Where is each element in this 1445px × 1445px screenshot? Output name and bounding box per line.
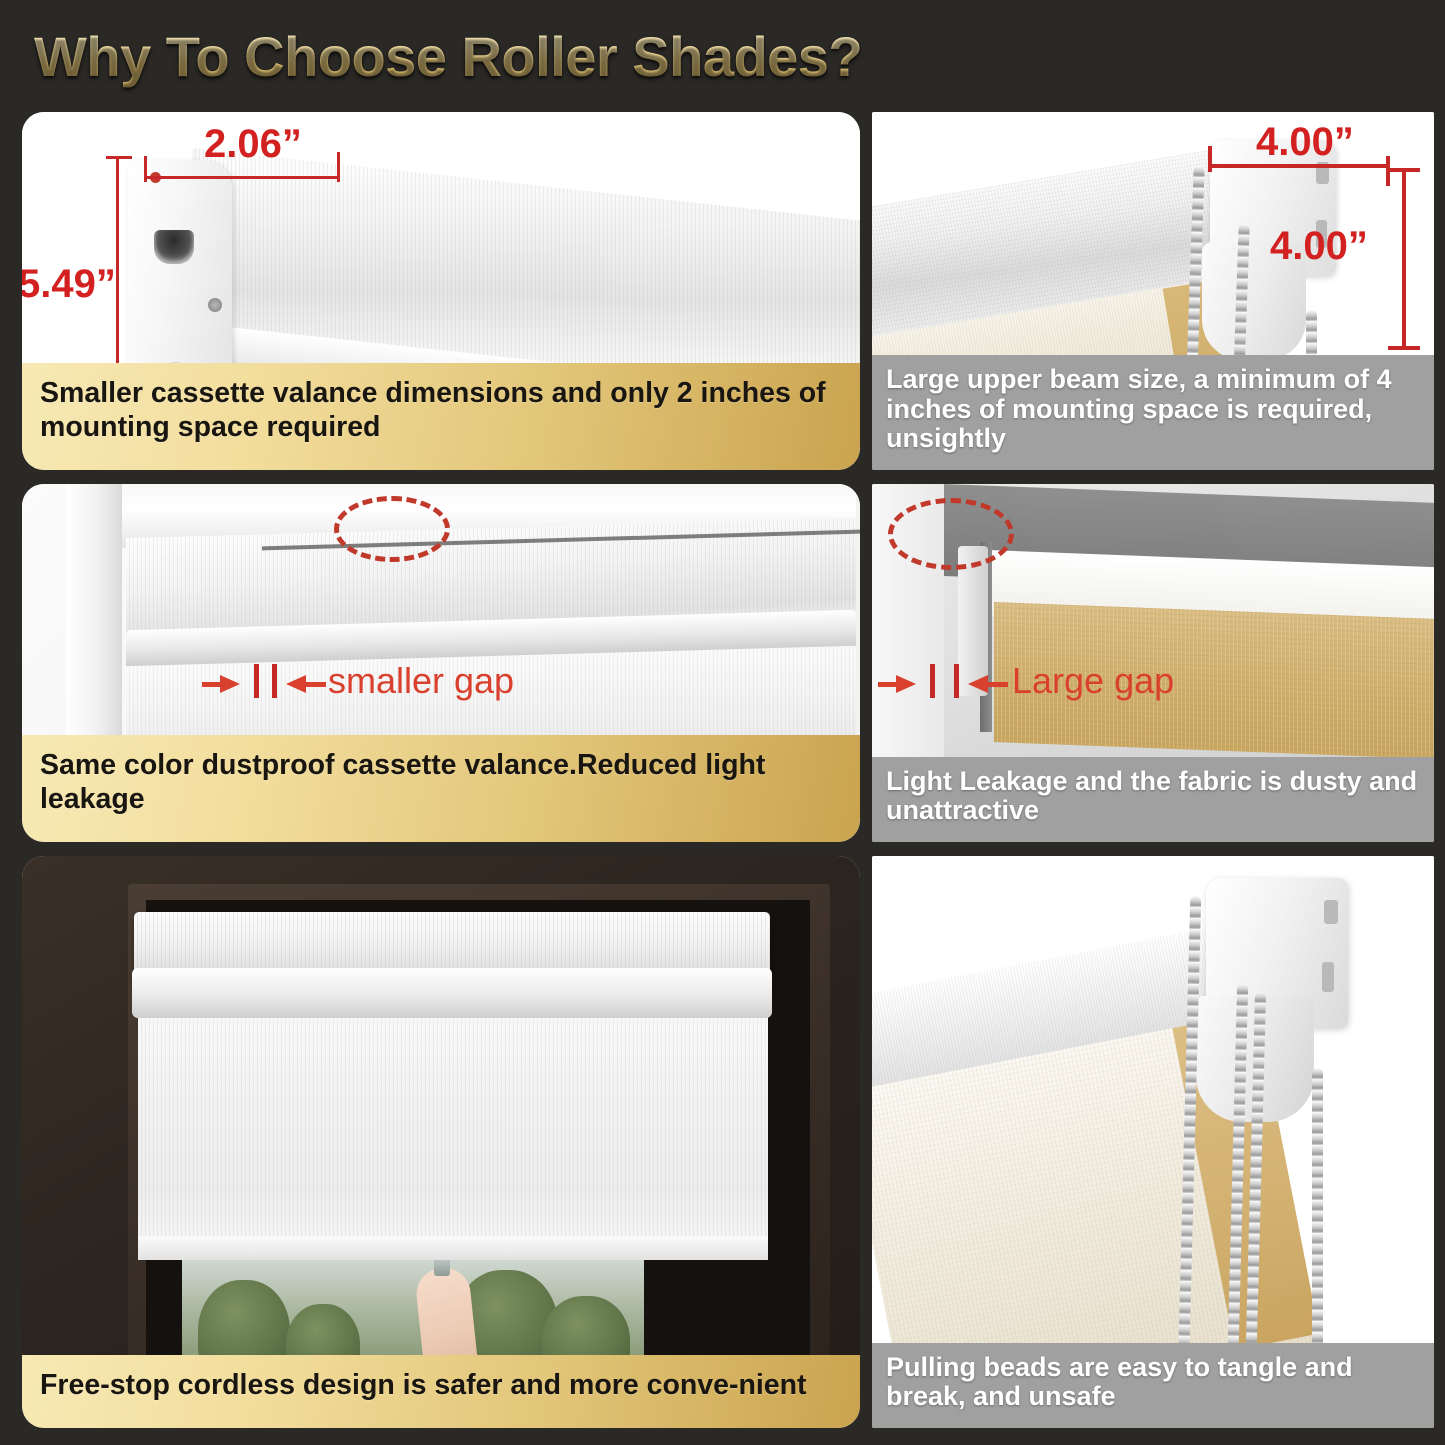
page-title: Why To Choose Roller Shades?: [34, 24, 862, 89]
window-frame-left: [66, 484, 122, 735]
bead-chain-tail: [1312, 1068, 1323, 1343]
bead-bracket-slot-2: [1322, 962, 1334, 992]
beam-dim-cap-left: [1208, 146, 1212, 172]
beam-dim-cap-top: [1388, 168, 1420, 172]
gap-arrow-left-tail: [304, 682, 326, 687]
panel-light-leakage: Large gap Light Leakage and the fabric i…: [872, 484, 1434, 842]
bead-bracket-slot-1: [1324, 900, 1338, 924]
gap-highlight-ellipse: [334, 496, 450, 562]
bead-chain-tail: [1306, 310, 1317, 355]
panel-caption-pulling-beads: Pulling beads are easy to tangle and bre…: [872, 1343, 1434, 1428]
comparison-grid: 5.49” 2.06” Smaller cassette valance dim…: [0, 112, 1445, 1428]
shade-fabric: [138, 1008, 768, 1248]
beam-dimension-label-width: 4.00”: [1256, 120, 1354, 165]
gap-arrow-left: [968, 675, 988, 693]
panel-caption-dustproof-valance: Same color dustproof cassette valance.Re…: [22, 735, 860, 842]
panel-caption-cassette-valance: Smaller cassette valance dimensions and …: [22, 363, 860, 470]
gap-marker-left: [930, 664, 935, 698]
panel-caption-large-beam: Large upper beam size, a minimum of 4 in…: [872, 355, 1434, 470]
dimension-cap-left: [144, 156, 147, 182]
gap-highlight-ellipse: [888, 498, 1014, 570]
gap-arrow-left-tail: [986, 682, 1008, 687]
gap-marker-right: [272, 664, 277, 698]
panel-free-stop-cordless: Free-stop cordless design is safer and m…: [22, 856, 860, 1428]
panel-image-cordless-window: [22, 856, 860, 1355]
dimension-cap-right: [337, 152, 340, 182]
dimension-line-vertical: [116, 156, 119, 363]
page-header: Why To Choose Roller Shades?: [0, 0, 1445, 112]
gap-arrow-right-tail: [202, 682, 226, 687]
panel-large-upper-beam: 4.00” 4.00” Large upper beam size, a min…: [872, 112, 1434, 470]
panel-caption-light-leakage: Light Leakage and the fabric is dusty an…: [872, 757, 1434, 842]
valance-front-rail: [132, 968, 772, 1018]
gap-marker-right: [954, 664, 959, 698]
panel-image-large-gap: Large gap: [872, 484, 1434, 757]
dimension-label-height: 5.49”: [22, 262, 116, 307]
panel-image-bead-chain: [872, 856, 1434, 1343]
panel-cassette-valance-dimensions: 5.49” 2.06” Smaller cassette valance dim…: [22, 112, 860, 470]
beam-dimension-label-height: 4.00”: [1270, 224, 1368, 269]
dimension-cap-top: [106, 156, 132, 159]
bracket-slot-upper: [154, 230, 194, 264]
beam-dim-cap-bottom: [1388, 346, 1420, 350]
gap-marker-left: [254, 664, 259, 698]
shade-bottom-rail: [138, 1236, 768, 1260]
panel-caption-cordless: Free-stop cordless design is safer and m…: [22, 1355, 860, 1428]
gap-arrow-right-tail: [878, 682, 902, 687]
gap-arrow-left: [286, 675, 306, 693]
gap-label-smaller: smaller gap: [328, 660, 514, 702]
panel-image-large-beam: 4.00” 4.00”: [872, 112, 1434, 355]
dimension-label-width: 2.06”: [204, 122, 302, 167]
panel-image-smaller-gap: smaller gap: [22, 484, 860, 735]
beam-dimension-line-vertical: [1402, 168, 1406, 350]
panel-pulling-beads: Pulling beads are easy to tangle and bre…: [872, 856, 1434, 1428]
gap-label-large: Large gap: [1012, 660, 1174, 702]
bracket-screw: [208, 298, 222, 312]
panel-dustproof-cassette-valance: smaller gap Same color dustproof cassett…: [22, 484, 860, 842]
dimension-line-horizontal: [144, 176, 340, 179]
panel-image-cassette-valance: 5.49” 2.06”: [22, 112, 860, 363]
